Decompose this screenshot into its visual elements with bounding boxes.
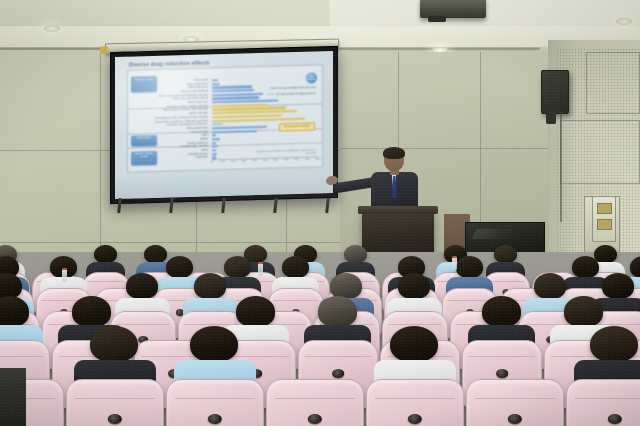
audience-member-head (534, 273, 566, 299)
screen-surface: Diverse drag reduction effects Turbulenc… (115, 51, 333, 199)
projection-screen: Diverse drag reduction effects Turbulenc… (110, 46, 338, 204)
lecture-hall-photo: Diverse drag reduction effects Turbulenc… (0, 0, 640, 426)
slide-axis-tick: 10% (220, 161, 224, 163)
audience-member-head (144, 245, 167, 263)
audience-member-head (318, 296, 357, 326)
auditorium-seat[interactable] (566, 379, 640, 426)
presenter-hair (383, 147, 405, 159)
podium-top (358, 206, 438, 214)
audience-member-head (194, 273, 226, 299)
slide-bar (212, 142, 216, 144)
downlight-icon (44, 25, 60, 32)
slide-bar (212, 83, 220, 85)
seat-number-badge (308, 414, 322, 424)
audience-member-head (236, 296, 275, 326)
slide-axis-tick: 30% (242, 160, 246, 162)
audience-member-head (456, 256, 483, 278)
audience-member-head (602, 273, 634, 299)
seat-number-badge (496, 369, 508, 378)
aisle-rail (0, 368, 26, 426)
speaker-mount (546, 110, 556, 124)
acoustic-panel-frame (560, 120, 640, 184)
wall-conduit (560, 112, 562, 222)
slide-chart-area: Turbulence control External flow Passive… (127, 64, 323, 172)
slide-axis-tick: 50% (263, 160, 267, 162)
water-bottle (452, 256, 457, 270)
audience-member-head (344, 245, 367, 263)
audience-member-head (590, 326, 638, 363)
slide-axis-tick: 0% (210, 161, 213, 163)
slide-axis-tick: 70% (284, 159, 288, 161)
seat-number-badge (508, 414, 522, 424)
audience-member-head (282, 256, 309, 278)
water-bottle (258, 262, 263, 276)
audience-member-head (0, 296, 29, 326)
auditorium-seat[interactable] (466, 379, 564, 426)
slide-axis-tick: 100% (315, 158, 321, 160)
water-bottle (62, 268, 67, 282)
slide-bar (212, 86, 252, 89)
audience-member-head (90, 326, 138, 363)
wall-speaker (541, 70, 569, 114)
slide-axis-tick: 80% (295, 159, 299, 161)
audience-member-head (190, 326, 238, 363)
seat-number-badge (108, 414, 122, 424)
wall-hook-row (112, 198, 336, 220)
audience-member-head (398, 273, 430, 299)
slide-bar (212, 153, 217, 155)
slide-axis-tick: 40% (252, 160, 256, 162)
auditorium-seat[interactable] (266, 379, 364, 426)
audience-member-head (494, 245, 517, 263)
auditorium-seat[interactable] (366, 379, 464, 426)
seat-number-badge (408, 414, 422, 424)
housing-tab (100, 46, 108, 53)
ceiling-projector (420, 0, 486, 18)
seat-number-badge (332, 369, 344, 378)
audience-member-head (94, 245, 117, 263)
slide-bar (212, 123, 223, 125)
seat-number-badge (608, 414, 622, 424)
downlight-icon (616, 18, 632, 25)
acoustic-panel-frame (586, 52, 640, 114)
slide-axis-tick: 20% (231, 161, 235, 163)
audience-member-head (224, 256, 251, 278)
slide-bar (212, 149, 216, 151)
slide-bar (212, 145, 218, 147)
auditorium-seat[interactable] (66, 379, 164, 426)
auditorium-seat[interactable] (166, 379, 264, 426)
slide-bar (212, 134, 216, 136)
slide-axis-tick: 60% (273, 159, 277, 161)
slide-content: Diverse drag reduction effects Turbulenc… (121, 55, 327, 175)
audience-member-head (166, 256, 193, 278)
screen-blank-area (115, 171, 333, 199)
seat-number-badge (208, 414, 222, 424)
slide-axis-tick: 90% (305, 159, 309, 161)
audience-member-head (390, 326, 438, 363)
wall-control-panel[interactable] (592, 196, 616, 242)
slide-bar (212, 138, 220, 140)
audience-member-head (564, 296, 603, 326)
slide-bars (212, 76, 318, 160)
audience-member-head (482, 296, 521, 326)
audience-member-head (72, 296, 111, 326)
audience-member-head (572, 256, 599, 278)
audience-member-head (126, 273, 158, 299)
slide-bar (212, 79, 218, 81)
